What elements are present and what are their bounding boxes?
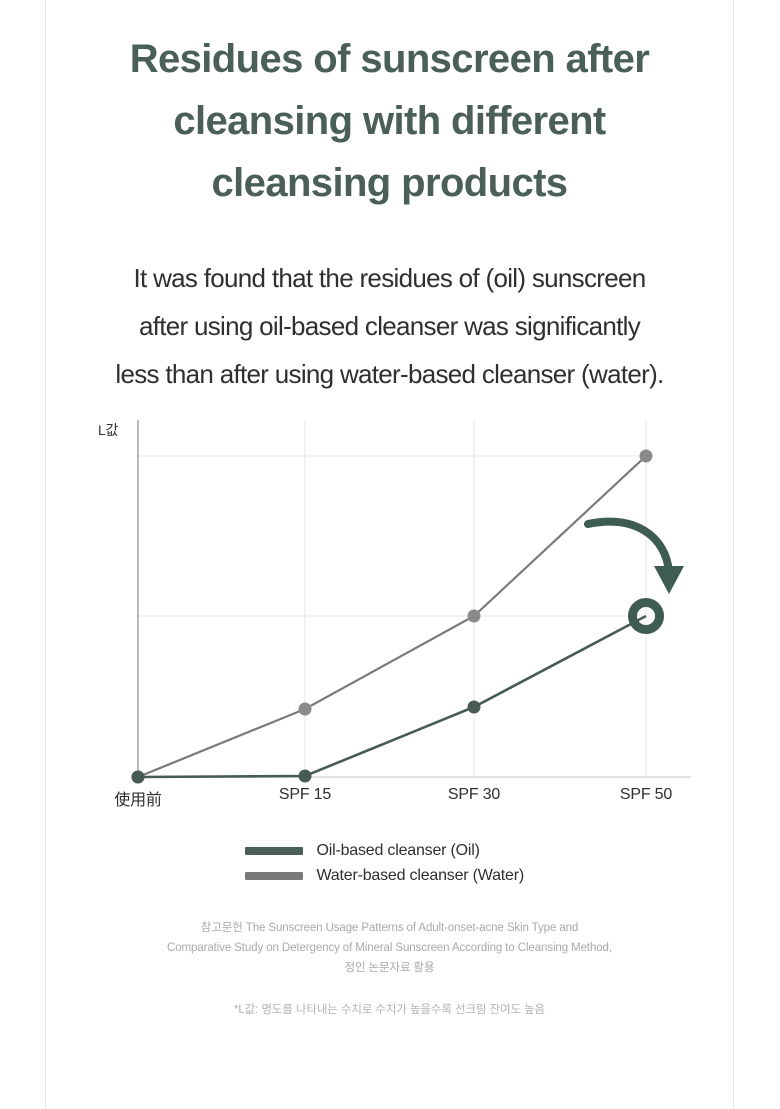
reference-line-1: 참고문헌 The Sunscreen Usage Patterns of Adu… [86, 919, 693, 939]
horizontal-gridlines [138, 456, 646, 616]
lead-paragraph: It was found that the residues of (oil) … [46, 254, 733, 398]
lead-line-3: less than after using water-based cleans… [54, 350, 725, 398]
content-column: Residues of sunscreen after cleansing wi… [46, 0, 733, 1109]
legend-label-water: Water-based cleanser (Water) [317, 867, 525, 885]
y-axis-label: L값 [98, 420, 118, 440]
reference-line-3: 정인 논문자료 활용 [86, 959, 693, 979]
line-chart: L값 [46, 420, 733, 820]
legend-label-oil: Oil-based cleanser (Oil) [317, 842, 480, 860]
series-line-oil [138, 616, 646, 777]
page-title: Residues of sunscreen after cleansing wi… [46, 28, 733, 214]
chart-canvas [46, 420, 734, 820]
x-axis-labels: 使用前 SPF 15 SPF 30 SPF 50 [46, 786, 733, 812]
lead-line-2: after using oil-based cleanser was signi… [54, 302, 725, 350]
legend-item-water: Water-based cleanser (Water) [245, 867, 535, 885]
x-axis-label-2: SPF 30 [448, 786, 500, 804]
legend-swatch-water-icon [245, 872, 303, 880]
l-value-note: *L값: 명도를 나타내는 수치로 수치가 높을수록 선크림 잔여도 높음 [46, 1001, 733, 1017]
legend-swatch-oil-icon [245, 847, 303, 855]
annotation-arrow-icon [588, 522, 684, 594]
vertical-gridlines [305, 420, 646, 777]
page-title-line-3: cleansing products [64, 152, 715, 214]
reference-line-2: Comparative Study on Detergency of Miner… [86, 939, 693, 959]
x-axis-label-0: 使用前 [114, 786, 161, 810]
legend-item-oil: Oil-based cleanser (Oil) [245, 842, 535, 860]
infographic-page: Residues of sunscreen after cleansing wi… [0, 0, 780, 1109]
page-title-line-2: cleansing with different [64, 90, 715, 152]
chart-legend: Oil-based cleanser (Oil) Water-based cle… [46, 842, 733, 885]
lead-line-1: It was found that the residues of (oil) … [54, 254, 725, 302]
x-axis-label-1: SPF 15 [279, 786, 331, 804]
page-title-line-1: Residues of sunscreen after [64, 28, 715, 90]
x-axis-label-3: SPF 50 [620, 786, 672, 804]
reference-citation: 참고문헌 The Sunscreen Usage Patterns of Adu… [46, 919, 733, 978]
